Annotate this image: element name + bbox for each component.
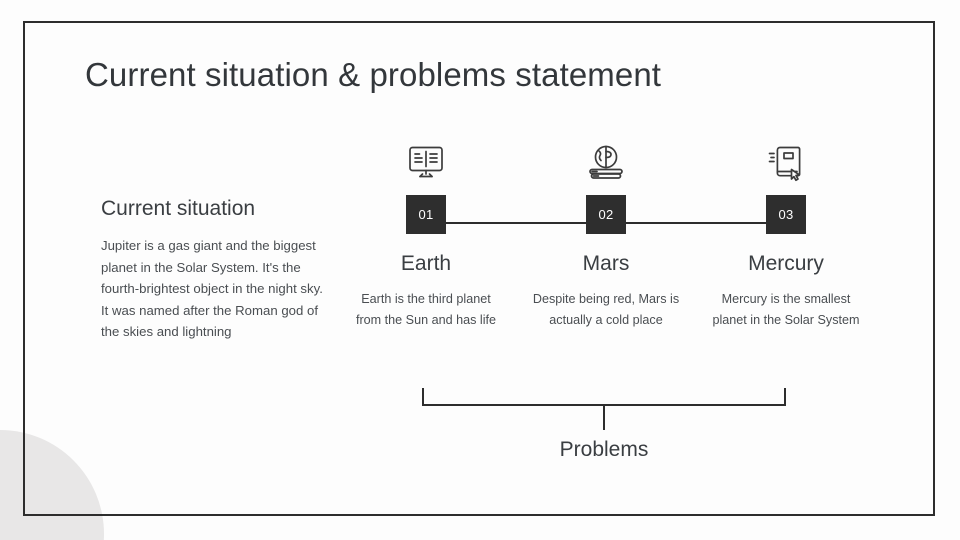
- problems-bracket-group: Problems: [422, 0, 786, 540]
- current-situation-panel: Current situation Jupiter is a gas giant…: [101, 196, 323, 343]
- timeline-badge-01[interactable]: 01: [406, 195, 446, 234]
- slide-canvas: Current situation & problems statement C…: [0, 0, 960, 540]
- problems-label: Problems: [422, 438, 786, 462]
- current-situation-body: Jupiter is a gas giant and the biggest p…: [101, 235, 323, 343]
- timeline-badge-03[interactable]: 03: [766, 195, 806, 234]
- timeline-badge-02[interactable]: 02: [586, 195, 626, 234]
- current-situation-heading: Current situation: [101, 196, 323, 221]
- slide-content: Current situation & problems statement C…: [0, 0, 960, 540]
- bracket-stem: [603, 404, 605, 430]
